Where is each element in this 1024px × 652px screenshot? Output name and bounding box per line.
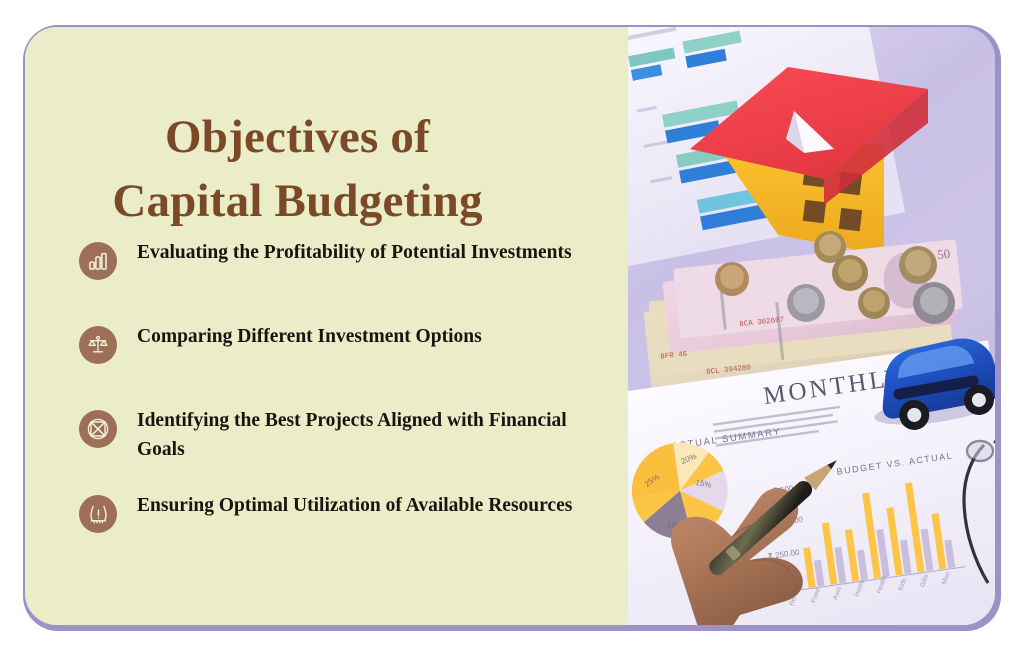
objective-text: Comparing Different Investment Options bbox=[137, 323, 482, 352]
alert-exclamation-icon bbox=[79, 495, 117, 533]
content-panel: Objectives of Capital Budgeting bbox=[25, 27, 628, 625]
list-item: Ensuring Optimal Utilization of Availabl… bbox=[79, 492, 614, 548]
bar-chart-icon bbox=[79, 242, 117, 280]
finance-desk-photo: Hand holding a pen over a printed Monthl… bbox=[628, 27, 995, 625]
list-item: Evaluating the Profitability of Potentia… bbox=[79, 239, 614, 295]
list-item: Comparing Different Investment Options bbox=[79, 323, 614, 379]
list-item: Identifying the Best Projects Aligned wi… bbox=[79, 407, 614, 464]
page-title-line-1: Objectives of bbox=[25, 106, 570, 170]
svg-text:50: 50 bbox=[936, 246, 950, 262]
objectives-list: Evaluating the Profitability of Potentia… bbox=[79, 239, 614, 548]
objective-text: Identifying the Best Projects Aligned wi… bbox=[137, 407, 589, 464]
target-focus-icon bbox=[79, 410, 117, 448]
objective-text: Ensuring Optimal Utilization of Availabl… bbox=[137, 492, 572, 521]
balance-scales-icon bbox=[79, 326, 117, 364]
slide-canvas: Objectives of Capital Budgeting bbox=[0, 0, 1024, 652]
objective-text: Evaluating the Profitability of Potentia… bbox=[137, 239, 572, 268]
page-title: Objectives of Capital Budgeting bbox=[25, 106, 570, 234]
page-title-line-2: Capital Budgeting bbox=[25, 170, 570, 234]
slide-card: Objectives of Capital Budgeting bbox=[25, 27, 995, 625]
